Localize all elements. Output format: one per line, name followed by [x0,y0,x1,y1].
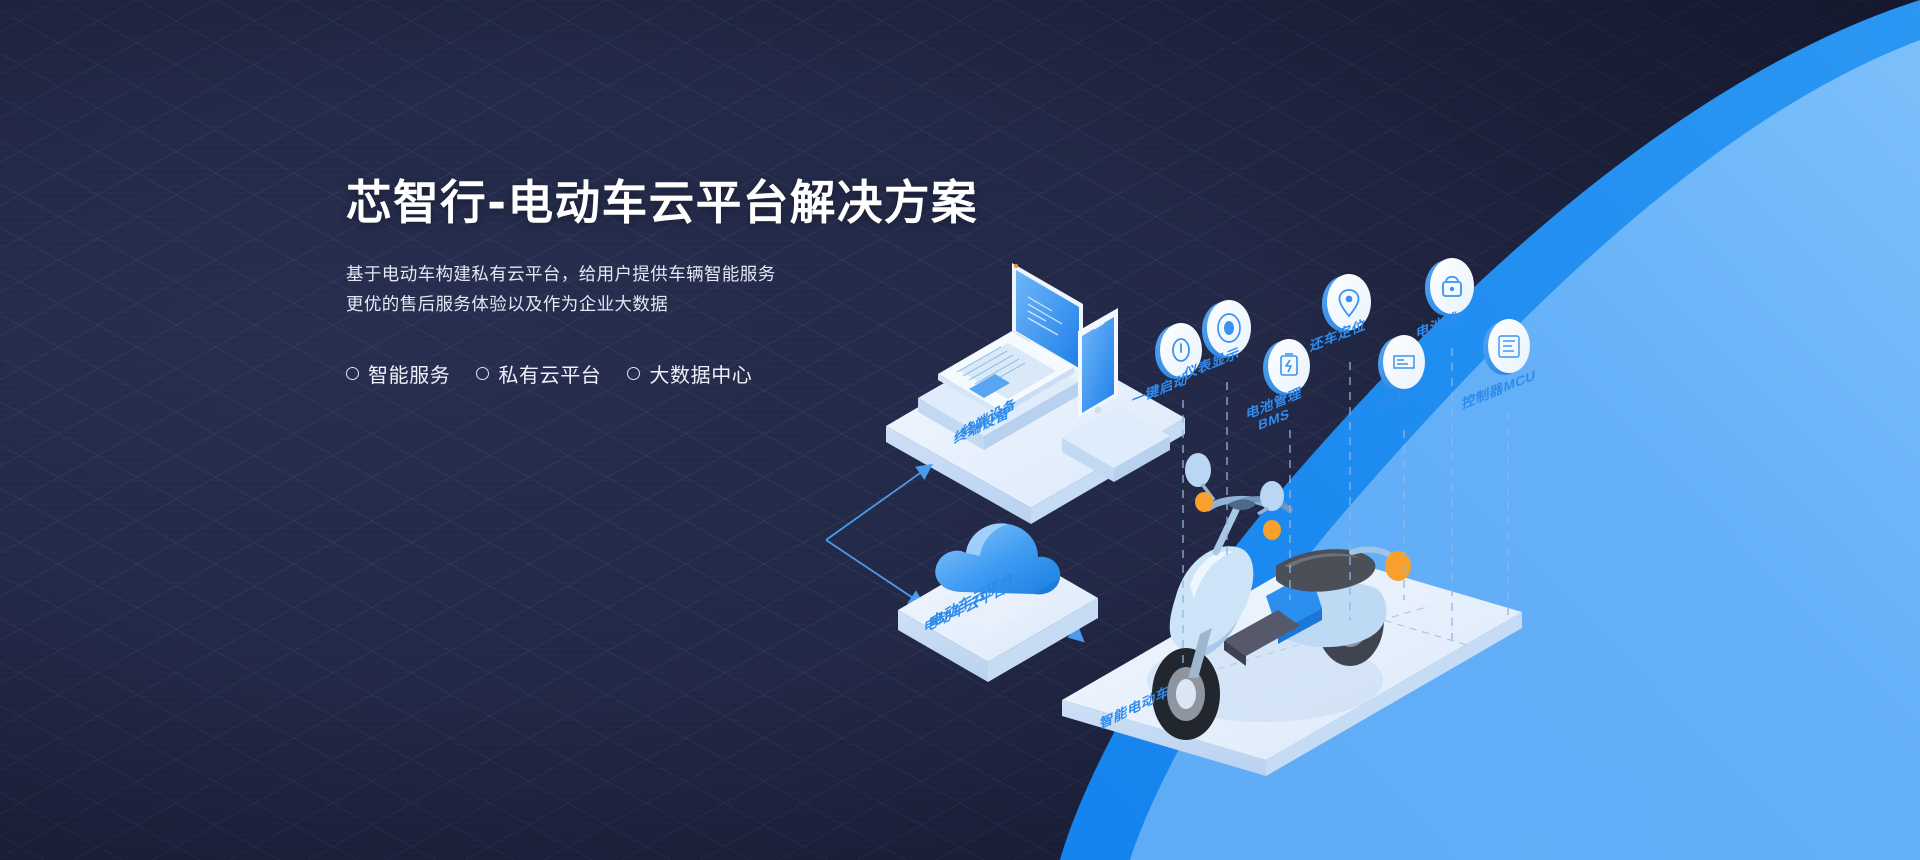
feature-tag-私有云平台[interactable]: 私有云平台 [476,359,601,388]
page-title: 芯智行-电动车云平台解决方案 [346,178,967,231]
page-description: 基于电动车构建私有云平台，给用户提供车辆智能服务 更优的售后服务体验以及作为企业… [346,259,986,319]
feature-coin-电池管理BMS[interactable] [1263,339,1310,395]
circle-outline-icon [346,367,359,380]
circle-outline-icon [476,367,489,380]
feature-coin-还车定位[interactable] [1322,274,1371,332]
feature-tag-智能服务[interactable]: 智能服务 [346,359,450,388]
architecture-illustration: 终端设备 电动车云平台 [0,0,1920,860]
scooter-icon [1147,453,1411,740]
feature-tag-list: 智能服务 私有云平台 大数据中心 [346,359,986,388]
feature-coin-仪表显示[interactable] [1202,300,1251,358]
feature-coin-VCU[interactable] [1378,335,1425,391]
feature-tag-label: 私有云平台 [498,359,601,388]
cloud-platform-node: 电动车云平台 [898,523,1098,682]
feature-tag-大数据中心[interactable]: 大数据中心 [627,359,752,388]
feature-coin-控制器MCU[interactable] [1483,319,1530,375]
terminal-cloud-connector [826,466,930,604]
hero-banner: 芯智行-电动车云平台解决方案 基于电动车构建私有云平台，给用户提供车辆智能服务 … [0,0,1920,860]
feature-coin-电池锁[interactable] [1425,258,1474,316]
description-line-2: 更优的售后服务体验以及作为企业大数据 [346,289,986,319]
feature-coin-一键启动[interactable] [1155,323,1202,379]
circle-outline-icon [627,367,640,380]
hero-copy: 芯智行-电动车云平台解决方案 基于电动车构建私有云平台，给用户提供车辆智能服务 … [346,178,986,388]
description-line-1: 基于电动车构建私有云平台，给用户提供车辆智能服务 [346,259,986,289]
feature-tag-label: 大数据中心 [649,359,752,388]
feature-tag-label: 智能服务 [368,359,450,388]
